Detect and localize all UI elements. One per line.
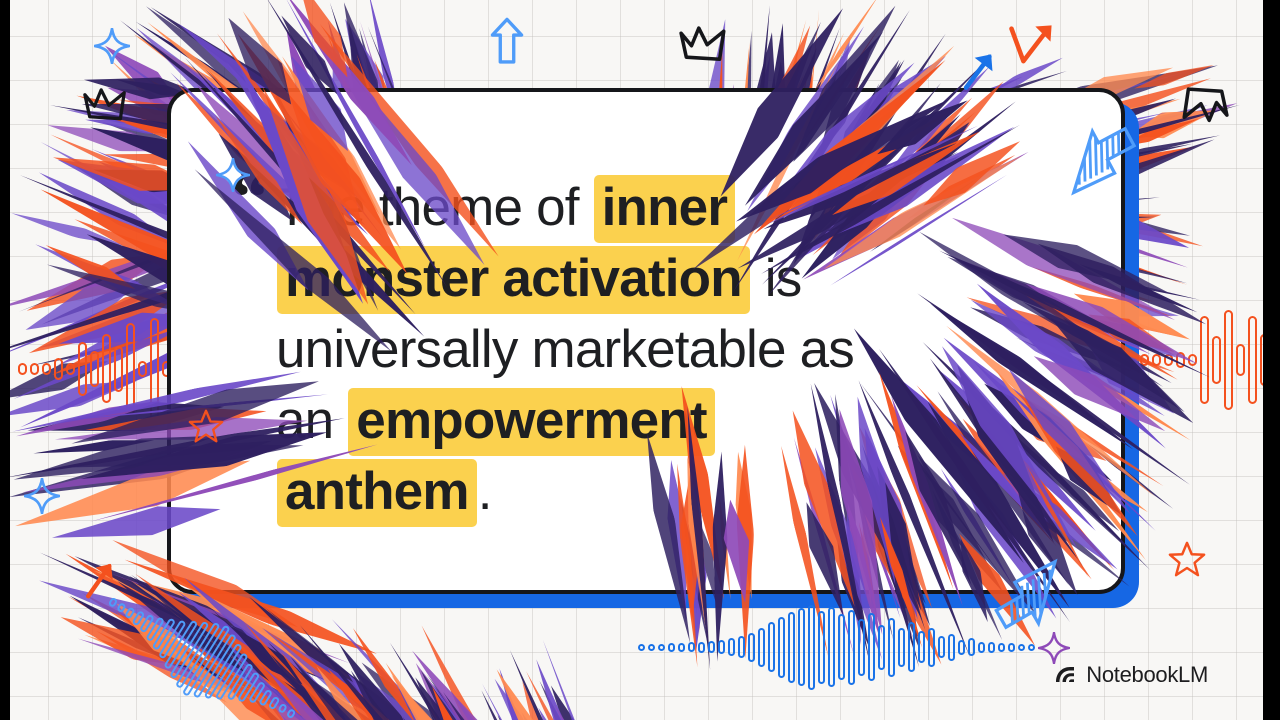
quote-highlight-span: empowerment bbox=[348, 388, 715, 456]
check-arrow-icon bbox=[1005, 20, 1057, 77]
quote-line: anthem. bbox=[276, 456, 1066, 527]
shard-cluster bbox=[473, 634, 640, 720]
star-outline-icon bbox=[1168, 540, 1206, 583]
sparkle-icon bbox=[94, 28, 130, 69]
letterbox-right bbox=[1263, 0, 1280, 720]
quote-plain-span: an bbox=[276, 391, 347, 450]
arrow-up-right-icon bbox=[76, 557, 123, 608]
quote-line: The theme of inner bbox=[276, 172, 1066, 243]
quote-plain-span: universally marketable as bbox=[276, 320, 854, 379]
paper-grid-background: “ The theme of innermonster activation i… bbox=[10, 0, 1263, 720]
brand-lockup: NotebookLM bbox=[1053, 662, 1208, 688]
shard-cluster bbox=[354, 620, 559, 720]
brand-name: NotebookLM bbox=[1086, 662, 1208, 688]
quote-highlight-span: anthem bbox=[277, 459, 477, 527]
quote-plain-span: is bbox=[751, 249, 802, 308]
quote-highlight-span: inner bbox=[594, 175, 736, 243]
quote-highlight-span: monster activation bbox=[277, 246, 750, 314]
quote-line: universally marketable as bbox=[276, 314, 1066, 385]
open-quote-icon: “ bbox=[231, 176, 268, 220]
waveform-blue-bottom bbox=[638, 605, 1035, 690]
sparkle-icon bbox=[24, 478, 60, 519]
quote-line: an empowerment bbox=[276, 385, 1066, 456]
crown-icon bbox=[82, 88, 130, 128]
quote-plain-span: . bbox=[478, 462, 492, 521]
quote-line: monster activation is bbox=[276, 243, 1066, 314]
crown-down-icon bbox=[1178, 80, 1230, 122]
quote-text-block: “ The theme of innermonster activation i… bbox=[276, 172, 1066, 527]
arrow-up-icon bbox=[490, 16, 524, 70]
slide-canvas: “ The theme of innermonster activation i… bbox=[0, 0, 1280, 720]
quote-plain-span: The theme of bbox=[276, 178, 593, 237]
crown-icon bbox=[678, 26, 730, 68]
quote-card: “ The theme of innermonster activation i… bbox=[167, 88, 1125, 594]
quote-lines: The theme of innermonster activation isu… bbox=[276, 172, 1066, 527]
letterbox-left bbox=[0, 0, 10, 720]
notebooklm-spiral-icon bbox=[1053, 663, 1077, 687]
shard-cluster bbox=[266, 596, 502, 720]
